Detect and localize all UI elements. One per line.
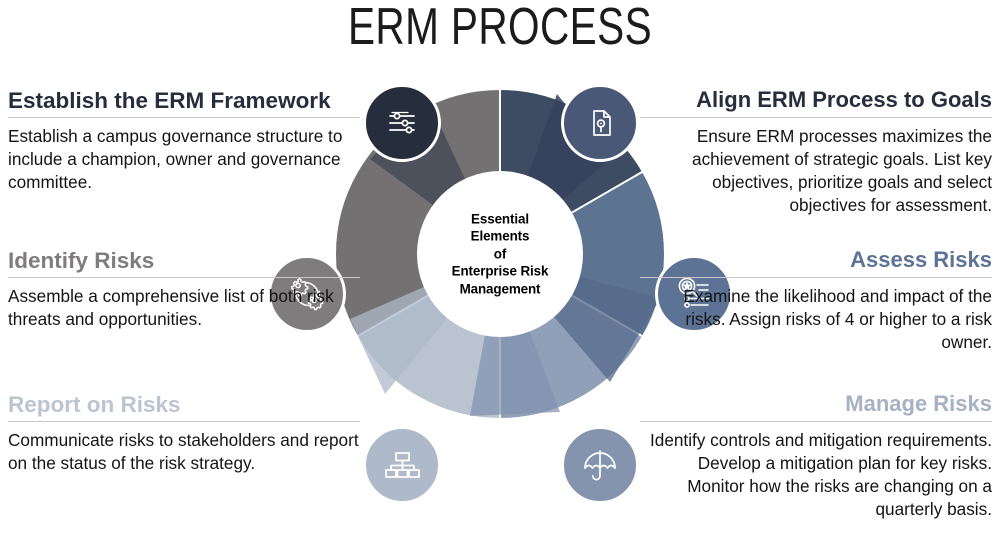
heading-divider [8, 421, 360, 422]
heading-divider [640, 117, 992, 118]
sliders-icon-badge [363, 84, 441, 162]
heading-divider [640, 421, 992, 422]
heading-divider [640, 277, 992, 278]
block-report-risks: Report on Risks Communicate risks to sta… [8, 392, 360, 475]
heading-identify-risks: Identify Risks [8, 248, 360, 277]
body-align-goals: Ensure ERM processes maximizes the achie… [640, 125, 992, 217]
heading-report-risks: Report on Risks [8, 392, 360, 421]
heading-divider [8, 117, 360, 118]
block-assess-risks: Assess Risks Examine the likelihood and … [640, 248, 992, 354]
heading-establish-framework: Establish the ERM Framework [8, 88, 360, 117]
block-manage-risks: Manage Risks Identify controls and mitig… [640, 392, 992, 521]
org-chart-icon-badge [363, 426, 441, 504]
umbrella-icon [579, 444, 621, 486]
org-chart-icon [381, 444, 423, 486]
umbrella-icon-badge [561, 426, 639, 504]
heading-manage-risks: Manage Risks [640, 392, 992, 421]
body-identify-risks: Assemble a comprehensive list of both ri… [8, 285, 360, 331]
heading-assess-risks: Assess Risks [640, 248, 992, 277]
heading-divider [8, 277, 360, 278]
hub-label: Essential Elements of Enterprise Risk Ma… [415, 210, 585, 297]
body-manage-risks: Identify controls and mitigation require… [640, 429, 992, 521]
document-question-icon [580, 103, 620, 143]
body-report-risks: Communicate risks to stakeholders and re… [8, 429, 360, 475]
hub-line-2: Elements [415, 228, 585, 245]
heading-align-goals: Align ERM Process to Goals [640, 88, 992, 117]
block-align-goals: Align ERM Process to Goals Ensure ERM pr… [640, 88, 992, 217]
hub-line-3: of [415, 245, 585, 262]
hub-line-5: Management [415, 280, 585, 297]
block-establish-framework: Establish the ERM Framework Establish a … [8, 88, 360, 194]
body-establish-framework: Establish a campus governance structure … [8, 125, 360, 194]
document-question-icon-badge [561, 84, 639, 162]
sliders-icon [382, 103, 422, 143]
block-identify-risks: Identify Risks Assemble a comprehensive … [8, 248, 360, 331]
page-title: ERM PROCESS [110, 0, 890, 56]
body-assess-risks: Examine the likelihood and impact of the… [640, 285, 992, 354]
hub-line-4: Enterprise Risk [415, 263, 585, 280]
hub-line-1: Essential [415, 210, 585, 227]
